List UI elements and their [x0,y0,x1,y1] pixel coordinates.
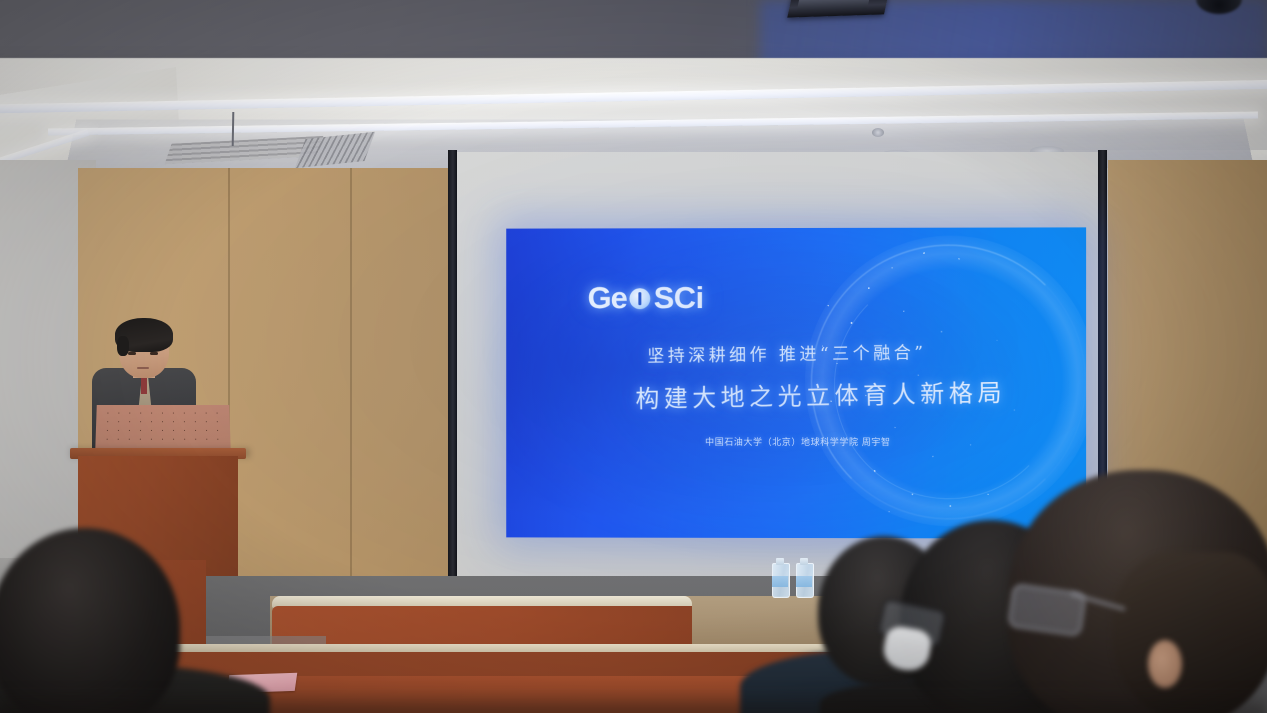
podium-perforated-panel [95,405,231,452]
slide-title-line-2: 构建大地之光立体育人新格局 [635,373,1006,414]
audience-member-ear [1148,640,1182,688]
projected-slide: Ge SCi 坚持深耕细作 推进“三个融合” 构建大地之光立体育人新格局 中国石… [506,227,1086,538]
presenter-tie [141,378,147,394]
logo-text-before: Ge [588,280,627,316]
bench-row-wood-face [272,606,692,646]
screen-frame-left-edge [448,150,457,600]
wall-panel-seam [350,168,352,588]
presenter-eye [128,352,136,355]
slide-byline: 中国石油大学（北京）地球科学学院 周宇智 [705,435,890,448]
presenter-mouth [137,367,149,369]
audience-member-hair [1112,552,1267,713]
geosci-logo: Ge SCi [588,280,704,316]
water-bottle-icon [772,556,788,596]
presentation-room-photo: Ge SCi 坚持深耕细作 推进“三个融合” 构建大地之光立体育人新格局 中国石… [0,0,1267,713]
globe-emblem-icon [630,288,651,309]
presenter-hair [115,318,173,352]
presenter-eye [150,352,158,355]
smoke-detector-icon [872,128,884,137]
slide-title-line-1: 坚持深耕细作 推进“三个融合” [647,338,926,367]
logo-text-after: SCi [654,280,704,316]
podium-perforation-pattern [101,409,224,448]
water-bottle-icon [796,556,812,596]
